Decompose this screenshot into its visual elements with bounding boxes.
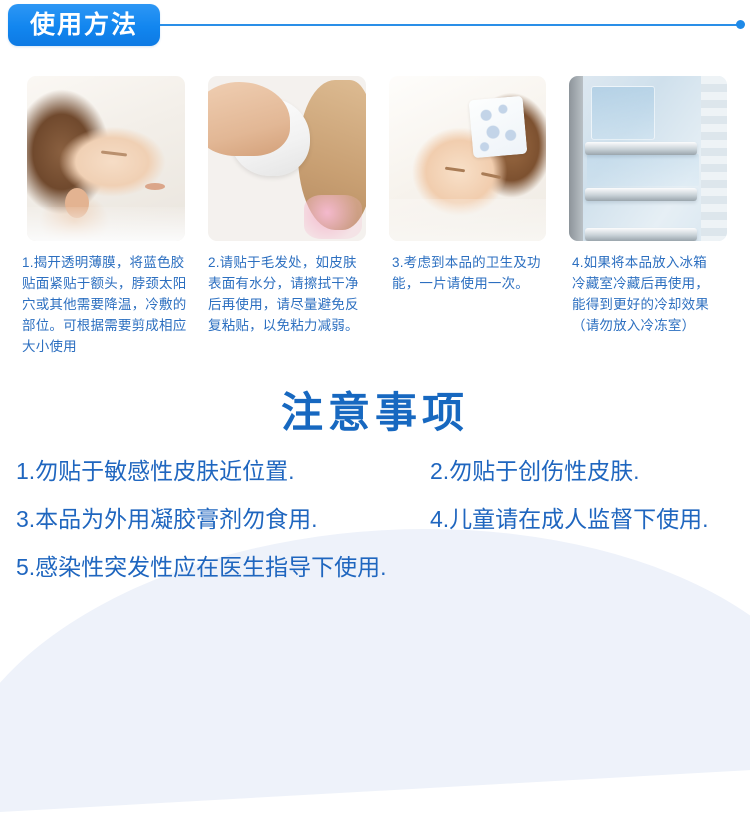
caption-line: 2.请贴于毛发处，如皮肤 bbox=[208, 252, 388, 273]
caption-line: 4.如果将本品放入冰箱 bbox=[572, 252, 750, 273]
caregiver-hand bbox=[208, 82, 290, 156]
fridge-shelf-2 bbox=[585, 188, 697, 201]
fridge-door-frame bbox=[569, 76, 583, 241]
baby-pillow bbox=[27, 207, 185, 241]
step-2-caption: 2.请贴于毛发处，如皮肤 表面有水分，请擦拭干净 后再使用，请尽量避免反 复粘贴… bbox=[208, 252, 388, 336]
section-header: 使用方法 bbox=[0, 0, 750, 52]
caption-line: 表面有水分，请擦拭干净 bbox=[208, 273, 388, 294]
pink-pajama bbox=[304, 195, 362, 239]
caption-line: 大小使用 bbox=[22, 336, 202, 357]
caption-line: 穴或其他需要降温，冷敷的 bbox=[22, 294, 202, 315]
fridge-side-vent bbox=[701, 76, 727, 241]
sleeping-baby-photo bbox=[27, 76, 185, 241]
fridge-shelf-1 bbox=[585, 142, 697, 155]
baby-mouth bbox=[145, 183, 165, 190]
step-photo-strip bbox=[27, 76, 727, 241]
fridge-shelf-3 bbox=[585, 228, 697, 241]
cooling-gel-patch bbox=[468, 96, 527, 158]
caption-line: 复粘贴，以免粘力减弱。 bbox=[208, 315, 388, 336]
baby-eye bbox=[101, 150, 127, 156]
caption-line: 部位。可根据需要剪成相应 bbox=[22, 315, 202, 336]
precaution-item-1: 1.勿贴于敏感性皮肤近位置. bbox=[16, 458, 295, 486]
caption-line: 能，一片请使用一次。 bbox=[392, 273, 570, 294]
child-eye-right bbox=[480, 172, 500, 179]
step-4-caption: 4.如果将本品放入冰箱 冷藏室冷藏后再使用， 能得到更好的冷却效果 （请勿放入冷… bbox=[572, 252, 750, 336]
cloth-on-forehead-photo bbox=[208, 76, 366, 241]
caption-line: 贴面紧贴于额头，脖颈太阳 bbox=[22, 273, 202, 294]
caption-line: 1.揭开透明薄膜，将蓝色胶 bbox=[22, 252, 202, 273]
header-divider-line bbox=[160, 24, 738, 26]
precautions-title: 注意事项 bbox=[0, 379, 750, 440]
cooling-patch-on-child-photo bbox=[389, 76, 547, 241]
usage-method-badge-label: 使用方法 bbox=[30, 13, 138, 38]
fridge-bin-lower bbox=[587, 154, 699, 186]
caption-line: 冷藏室冷藏后再使用， bbox=[572, 273, 750, 294]
caption-line: （请勿放入冷冻室） bbox=[572, 315, 750, 336]
precaution-item-2: 2.勿贴于创伤性皮肤. bbox=[430, 458, 640, 486]
child-blanket bbox=[389, 199, 547, 241]
precautions-list: 1.勿贴于敏感性皮肤近位置. 2.勿贴于创伤性皮肤. 3.本品为外用凝胶膏剂勿食… bbox=[0, 458, 750, 598]
precaution-item-5: 5.感染性突发性应在医生指导下使用. bbox=[16, 554, 387, 582]
header-line-end-dot bbox=[736, 20, 745, 29]
precaution-item-4: 4.儿童请在成人监督下使用. bbox=[430, 506, 709, 534]
caption-line: 能得到更好的冷却效果 bbox=[572, 294, 750, 315]
refrigerator-interior-photo bbox=[569, 76, 727, 241]
caption-line: 3.考虑到本品的卫生及功 bbox=[392, 252, 570, 273]
usage-method-badge: 使用方法 bbox=[8, 4, 160, 46]
caption-line: 后再使用，请尽量避免反 bbox=[208, 294, 388, 315]
step-1-caption: 1.揭开透明薄膜，将蓝色胶 贴面紧贴于额头，脖颈太阳 穴或其他需要降温，冷敷的 … bbox=[22, 252, 202, 357]
child-eye-left bbox=[444, 167, 464, 173]
precaution-item-3: 3.本品为外用凝胶膏剂勿食用. bbox=[16, 506, 318, 534]
fridge-bin-upper bbox=[591, 86, 655, 140]
step-3-caption: 3.考虑到本品的卫生及功 能，一片请使用一次。 bbox=[392, 252, 570, 294]
